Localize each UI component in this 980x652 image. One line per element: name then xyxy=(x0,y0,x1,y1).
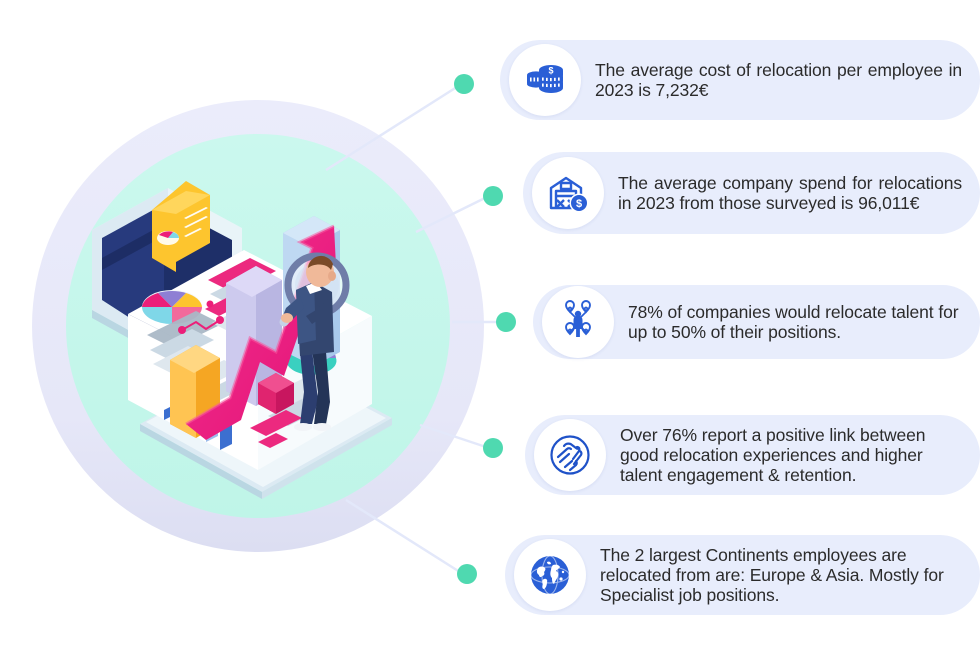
globe-icon-badge xyxy=(514,539,586,611)
stat-card-continents[interactable]: The 2 largest Continents employees are r… xyxy=(505,535,980,615)
person-location-pins-icon xyxy=(555,299,601,345)
coin-stack-icon: $ xyxy=(522,57,568,103)
handshake-globe-icon xyxy=(546,431,594,479)
stat-card-relocate-talent[interactable]: 78% of companies would relocate talent f… xyxy=(533,285,980,359)
stat-card-3-text: 78% of companies would relocate talent f… xyxy=(614,302,972,343)
svg-text:$: $ xyxy=(576,198,582,210)
handshake-globe-icon-badge xyxy=(534,419,606,491)
warehouse-dollar-icon: $ xyxy=(545,170,591,216)
stat-card-5-text: The 2 largest Continents employees are r… xyxy=(586,545,972,606)
stat-card-engagement-retention[interactable]: Over 76% report a positive link between … xyxy=(525,415,980,495)
stat-card-1-text: The average cost of relocation per emplo… xyxy=(581,60,972,101)
globe-icon xyxy=(527,552,573,598)
person-location-pins-icon-badge xyxy=(542,286,614,358)
stat-card-company-spend[interactable]: $ The average company spend for relocati… xyxy=(523,152,980,234)
isometric-data-analytics-illustration xyxy=(0,0,500,652)
stat-card-4-text: Over 76% report a positive link between … xyxy=(606,425,972,486)
bubble-pie-icon xyxy=(157,231,179,245)
stat-card-average-cost[interactable]: $ The average cost of relocation per emp… xyxy=(500,40,980,120)
svg-text:$: $ xyxy=(548,66,553,76)
stat-card-2-text: The average company spend for relocation… xyxy=(604,173,972,214)
illustration-panel xyxy=(0,0,500,652)
warehouse-dollar-icon-badge: $ xyxy=(532,157,604,229)
coin-stack-icon-badge: $ xyxy=(509,44,581,116)
